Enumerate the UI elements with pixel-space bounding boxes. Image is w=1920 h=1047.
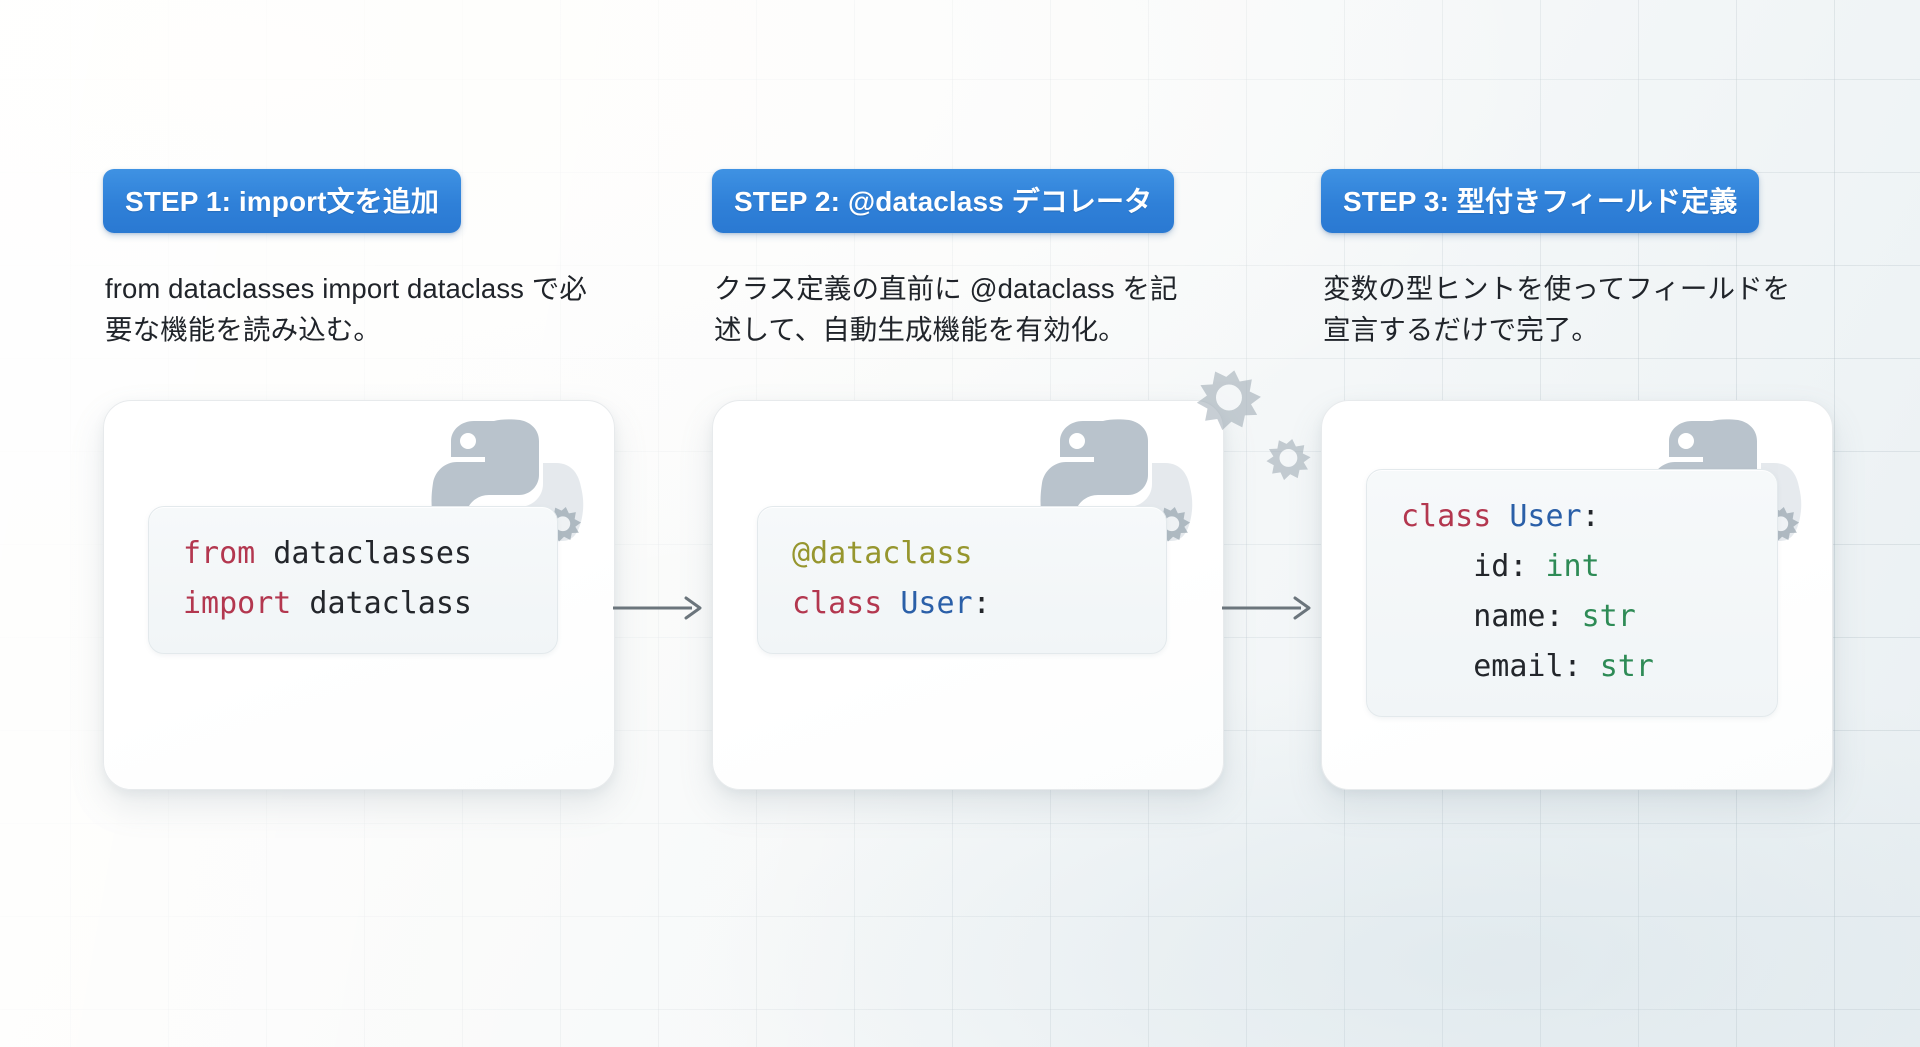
- step-column-3: STEP 3: 型付きフィールド定義 変数の型ヒントを使ってフィールドを宣言する…: [1321, 0, 1836, 1047]
- step-description-1: from dataclasses import dataclass で必要な機能…: [105, 268, 587, 350]
- step-description-2: クラス定義の直前に @dataclass を記述して、自動生成機能を有効化。: [714, 268, 1196, 350]
- step-card-1: from dataclasses import dataclass: [103, 400, 615, 790]
- code-snippet-3: class User: id: int name: str email: str: [1366, 469, 1778, 717]
- step-column-2: STEP 2: @dataclass デコレータ クラス定義の直前に @data…: [712, 0, 1227, 1047]
- code-token-keyword: import: [183, 586, 291, 621]
- step-badge-1: STEP 1: import文を追加: [103, 169, 461, 233]
- code-token-type: str: [1582, 599, 1636, 634]
- code-token-decorator: @dataclass: [792, 536, 973, 571]
- code-token-keyword: class: [1401, 499, 1491, 534]
- code-token-keyword: class: [792, 586, 882, 621]
- step-column-1: STEP 1: import文を追加 from dataclasses impo…: [103, 0, 618, 1047]
- code-token-type: str: [1600, 649, 1654, 684]
- step-badge-2: STEP 2: @dataclass デコレータ: [712, 169, 1174, 233]
- step-description-3: 変数の型ヒントを使ってフィールドを宣言するだけで完了。: [1323, 268, 1805, 350]
- code-token-classname: User: [1509, 499, 1581, 534]
- code-snippet-2: @dataclass class User:: [757, 506, 1167, 654]
- step-card-2: @dataclass class User:: [712, 400, 1224, 790]
- arrow-step2-to-step3: [1221, 595, 1319, 621]
- step-card-3: class User: id: int name: str email: str: [1321, 400, 1833, 790]
- code-token-classname: User: [900, 586, 972, 621]
- arrow-step1-to-step2: [612, 595, 710, 621]
- code-token-type: int: [1546, 549, 1600, 584]
- code-token-keyword: from: [183, 536, 255, 571]
- code-snippet-1: from dataclasses import dataclass: [148, 506, 558, 654]
- step-badge-3: STEP 3: 型付きフィールド定義: [1321, 169, 1759, 233]
- steps-board: STEP 1: import文を追加 from dataclasses impo…: [0, 0, 1920, 1047]
